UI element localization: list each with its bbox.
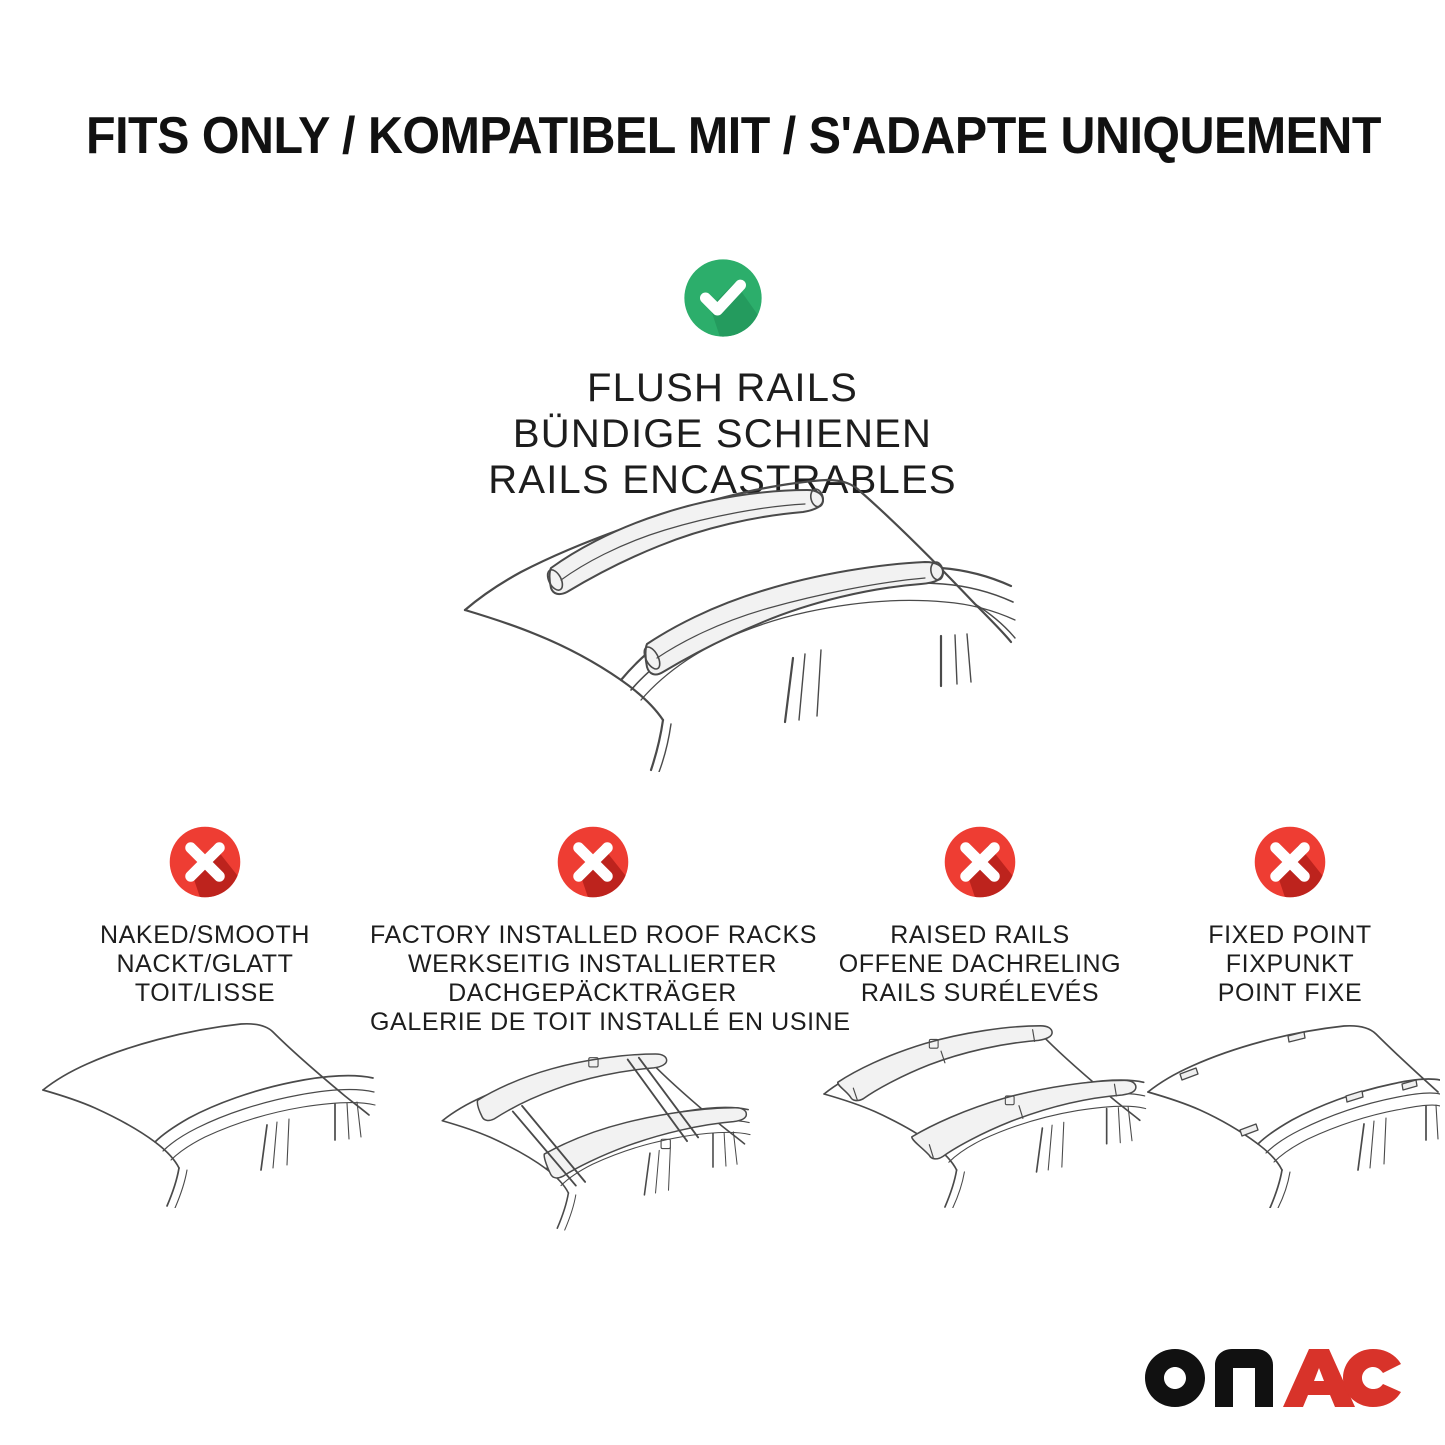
nofit-label-line-3: RAILS SURÉLEVÉS: [805, 979, 1155, 1008]
car-roof-fixed-point-illustration: [1140, 1018, 1440, 1208]
nofit-label-line-1: FIXED POINT: [1140, 921, 1440, 950]
nofit-label-group: FACTORY INSTALLED ROOF RACKS WERKSEITIG …: [370, 921, 815, 1037]
nofit-label-group: RAISED RAILS OFFENE DACHRELING RAILS SUR…: [805, 921, 1155, 1008]
nofit-label-line-1: NAKED/SMOOTH: [30, 921, 380, 950]
car-roof-naked-illustration: [30, 1018, 380, 1208]
fits-label-line-1: FLUSH RAILS: [0, 365, 1445, 411]
nofit-item-naked-smooth: NAKED/SMOOTH NACKT/GLATT TOIT/LISSE: [30, 820, 380, 1208]
nofit-label-line-1: RAISED RAILS: [805, 921, 1155, 950]
x-circle-icon: [551, 820, 635, 904]
nofit-label-line-3: DACHGEPÄCKTRÄGER: [370, 979, 815, 1008]
car-roof-with-flush-rails-illustration: [455, 472, 1035, 772]
not-compatible-section: NAKED/SMOOTH NACKT/GLATT TOIT/LISSE: [0, 820, 1445, 1240]
nofit-label-line-2: FIXPUNKT: [1140, 950, 1440, 979]
nofit-item-factory-roof-racks: FACTORY INSTALLED ROOF RACKS WERKSEITIG …: [370, 820, 815, 1231]
x-circle-icon: [163, 820, 247, 904]
nofit-label-line-3: TOIT/LISSE: [30, 979, 380, 1008]
nofit-label-line-2: OFFENE DACHRELING: [805, 950, 1155, 979]
nofit-label-group: FIXED POINT FIXPUNKT POINT FIXE: [1140, 921, 1440, 1008]
nofit-label-group: NAKED/SMOOTH NACKT/GLATT TOIT/LISSE: [30, 921, 380, 1008]
nofit-label-line-2: NACKT/GLATT: [30, 950, 380, 979]
check-circle-icon: [677, 252, 769, 344]
fits-section: FLUSH RAILS BÜNDIGE SCHIENEN RAILS ENCAS…: [0, 252, 1445, 503]
omac-logo: OMAC: [1143, 1347, 1403, 1409]
fits-label-line-2: BÜNDIGE SCHIENEN: [0, 411, 1445, 457]
page-title: FITS ONLY / KOMPATIBEL MIT / S'ADAPTE UN…: [86, 108, 1276, 164]
nofit-label-line-2: WERKSEITIG INSTALLIERTER: [370, 950, 815, 979]
x-circle-icon: [938, 820, 1022, 904]
car-roof-factory-racks-illustration: [370, 1041, 815, 1231]
nofit-item-fixed-point: FIXED POINT FIXPUNKT POINT FIXE: [1140, 820, 1440, 1208]
nofit-item-raised-rails: RAISED RAILS OFFENE DACHRELING RAILS SUR…: [805, 820, 1155, 1208]
x-circle-icon: [1248, 820, 1332, 904]
nofit-label-line-4: GALERIE DE TOIT INSTALLÉ EN USINE: [370, 1008, 815, 1037]
nofit-label-line-3: POINT FIXE: [1140, 979, 1440, 1008]
compatibility-infographic: FITS ONLY / KOMPATIBEL MIT / S'ADAPTE UN…: [0, 0, 1445, 1445]
nofit-label-line-1: FACTORY INSTALLED ROOF RACKS: [370, 921, 815, 950]
car-roof-raised-rails-illustration: [805, 1018, 1155, 1208]
